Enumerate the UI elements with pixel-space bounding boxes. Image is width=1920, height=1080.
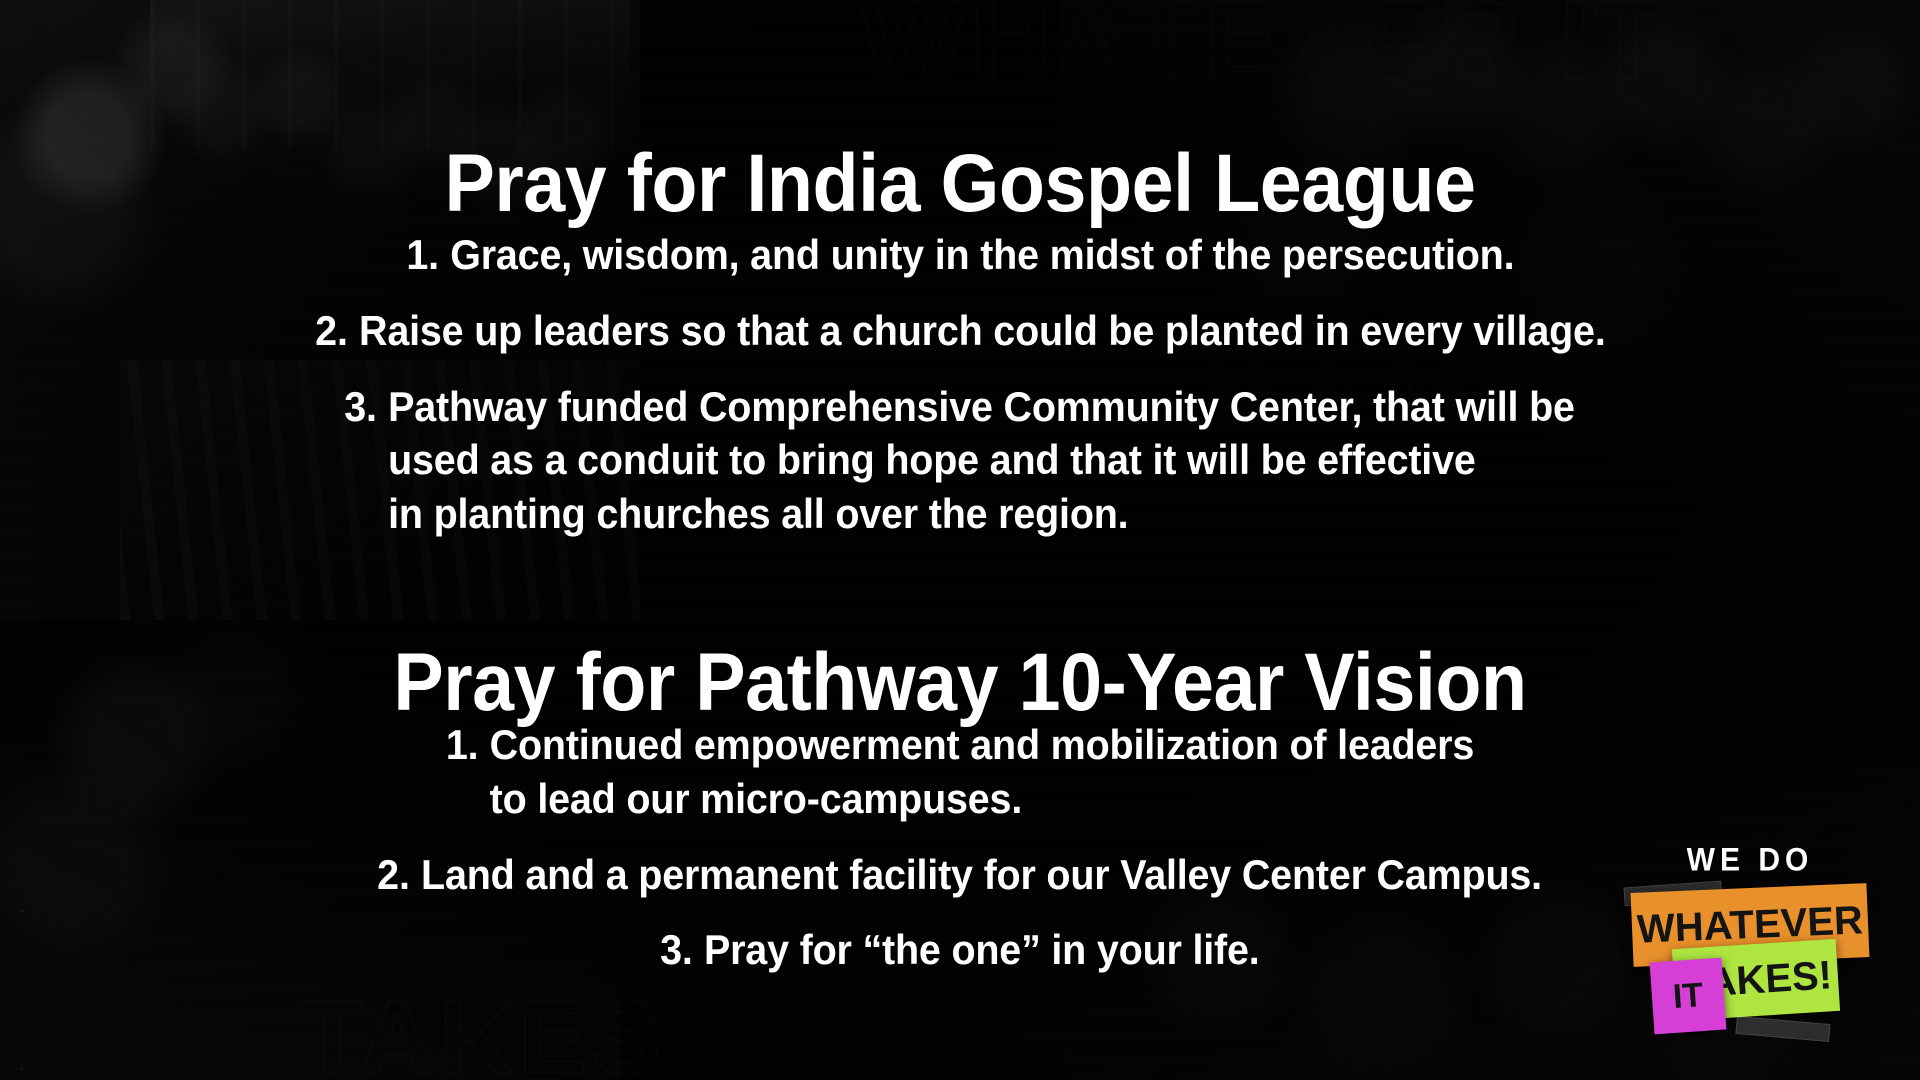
section-2-heading: Pray for Pathway 10-Year Vision: [77, 642, 1843, 724]
section-1-list: 1. Grace, wisdom, and unity in the midst…: [0, 228, 1920, 563]
list-item-text: Continued empowerment and mobilization o…: [490, 718, 1474, 826]
section-1-heading: Pray for India Gospel League: [77, 143, 1843, 225]
list-item-marker: 3.: [660, 923, 704, 977]
slide-content: Pray for India Gospel League 1. Grace, w…: [0, 0, 1920, 1080]
list-item-marker: 2.: [315, 304, 359, 358]
logo-we-do-text: WE DO: [1616, 843, 1884, 880]
list-item-marker: 1.: [446, 718, 490, 772]
we-do-whatever-it-takes-logo: WE DO WHATEVER TAKES! IT: [1616, 844, 1884, 1044]
list-item-marker: 2.: [378, 848, 422, 902]
list-item-text: Raise up leaders so that a church could …: [359, 304, 1606, 358]
list-item-marker: 3.: [345, 380, 389, 434]
list-item: 1. Continued empowerment and mobilizatio…: [0, 718, 1920, 826]
list-item: 2. Raise up leaders so that a church cou…: [0, 304, 1920, 358]
logo-sticker-it: IT: [1650, 958, 1727, 1035]
list-item: 3. Pathway funded Comprehensive Communit…: [0, 380, 1920, 541]
list-item-text: Pathway funded Comprehensive Community C…: [389, 380, 1576, 541]
list-item: 1. Grace, wisdom, and unity in the midst…: [0, 228, 1920, 282]
list-item-text: Pray for “the one” in your life.: [704, 923, 1260, 977]
logo-tape-strip-bottom: [1735, 1016, 1830, 1042]
list-item-text: Grace, wisdom, and unity in the midst of…: [450, 228, 1514, 282]
list-item-text: Land and a permanent facility for our Va…: [421, 848, 1542, 902]
prayer-slide: WHATEVER IT N A M E TAKES Pray for India…: [0, 0, 1920, 1080]
list-item-marker: 1.: [406, 228, 450, 282]
